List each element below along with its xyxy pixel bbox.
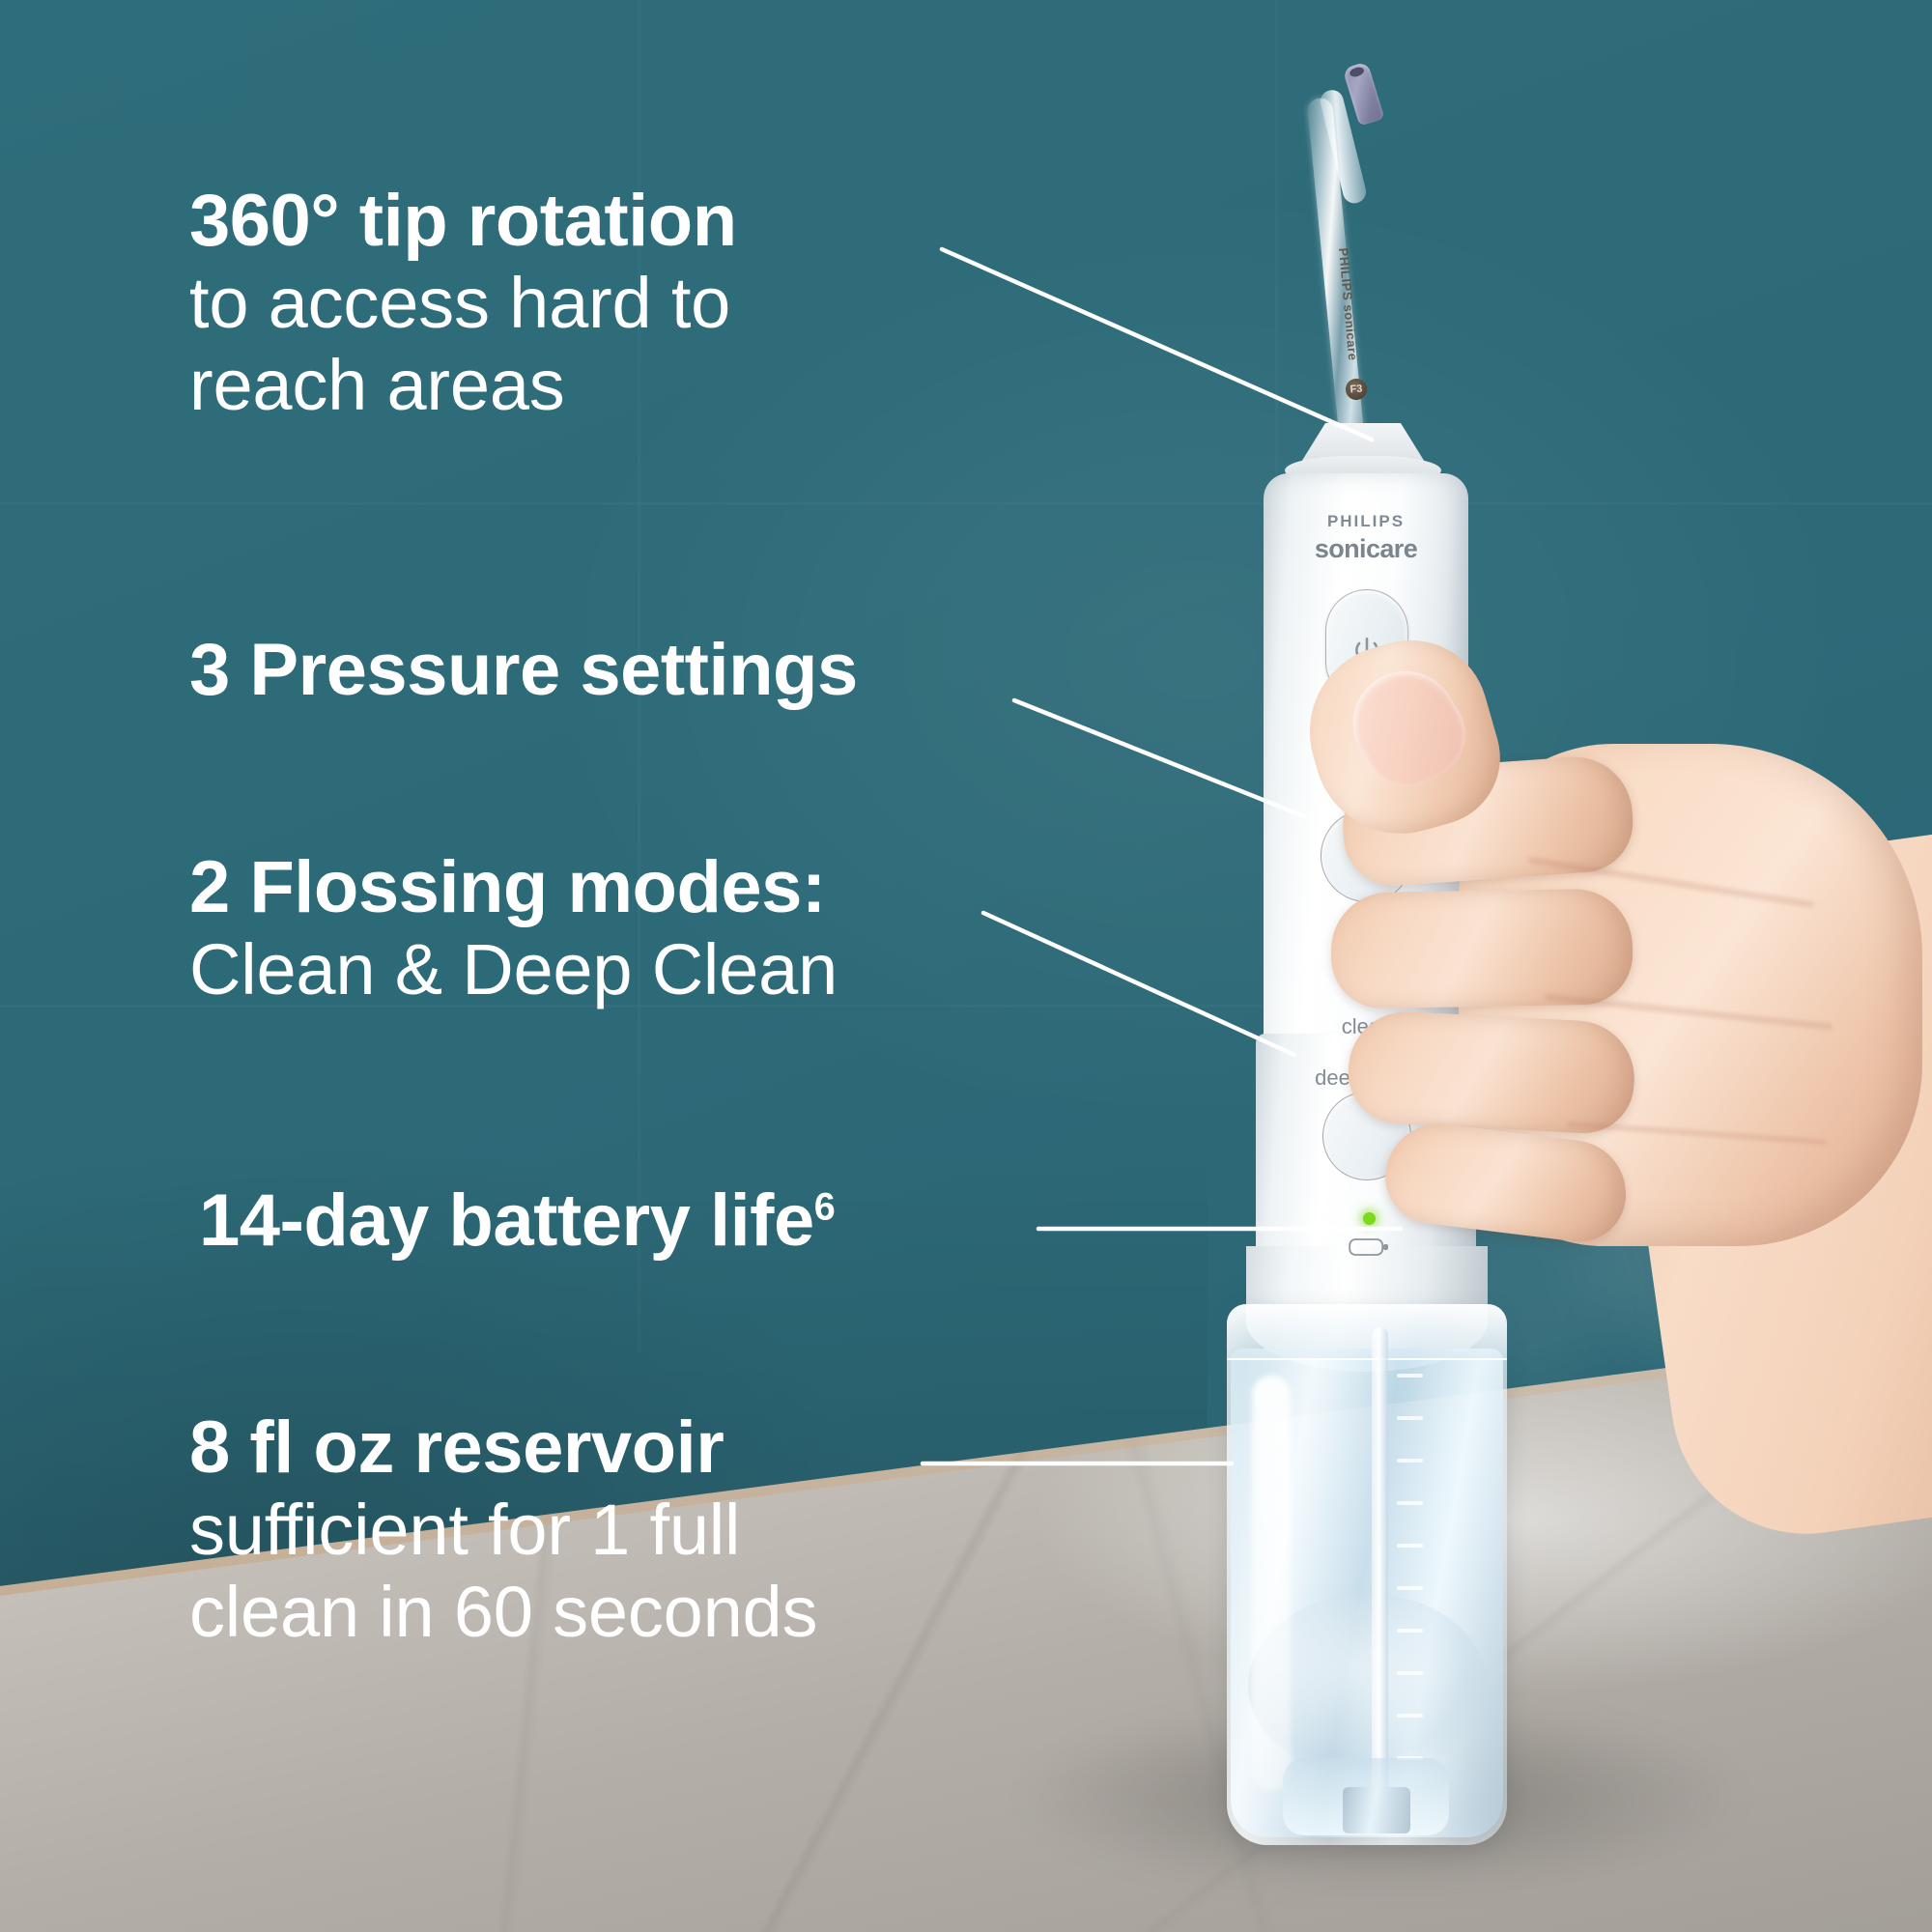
- product-feature-image: PHILIPS sonicare F3 PHILIPS sonicare cle…: [0, 0, 1932, 1932]
- thumbnail: [1334, 652, 1482, 803]
- feature-reservoir: 8 fl oz reservoir sufficient for 1 full …: [189, 1410, 1059, 1651]
- feature-headline: 2 Flossing modes:: [189, 850, 1039, 925]
- feature-headline-wrap: 14-day battery life6: [199, 1183, 1049, 1259]
- nozzle-tip: [1343, 61, 1385, 126]
- middle-finger: [1330, 888, 1634, 1009]
- ring-finger: [1346, 1009, 1637, 1135]
- feature-subline-2: clean in 60 seconds: [189, 1574, 1059, 1651]
- feature-subline-1: to access hard to: [189, 265, 952, 342]
- feature-headline: 3 Pressure settings: [189, 633, 1039, 708]
- feature-battery-life: 14-day battery life6: [199, 1183, 1049, 1259]
- feature-headline: 360° tip rotation: [189, 184, 952, 259]
- feature-subline: Clean & Deep Clean: [189, 931, 1039, 1009]
- feature-flossing-modes: 2 Flossing modes: Clean & Deep Clean: [189, 850, 1039, 1008]
- feature-subline-2: reach areas: [189, 347, 952, 424]
- feature-pressure-settings: 3 Pressure settings: [189, 633, 1039, 708]
- feature-subline-1: sufficient for 1 full: [189, 1492, 1059, 1569]
- feature-headline: 14-day battery life: [199, 1179, 814, 1262]
- reservoir-clip: [1343, 1787, 1410, 1833]
- footnote-marker: 6: [814, 1186, 835, 1229]
- brand-philips-label: PHILIPS: [1308, 512, 1424, 531]
- flosser-nozzle: PHILIPS sonicare F3: [1329, 58, 1383, 473]
- brand-sonicare-label: sonicare: [1298, 534, 1434, 564]
- hand-holding-device: [1285, 638, 1932, 1507]
- feature-tip-rotation: 360° tip rotation to access hard to reac…: [189, 184, 952, 424]
- feature-headline: 8 fl oz reservoir: [189, 1410, 1059, 1486]
